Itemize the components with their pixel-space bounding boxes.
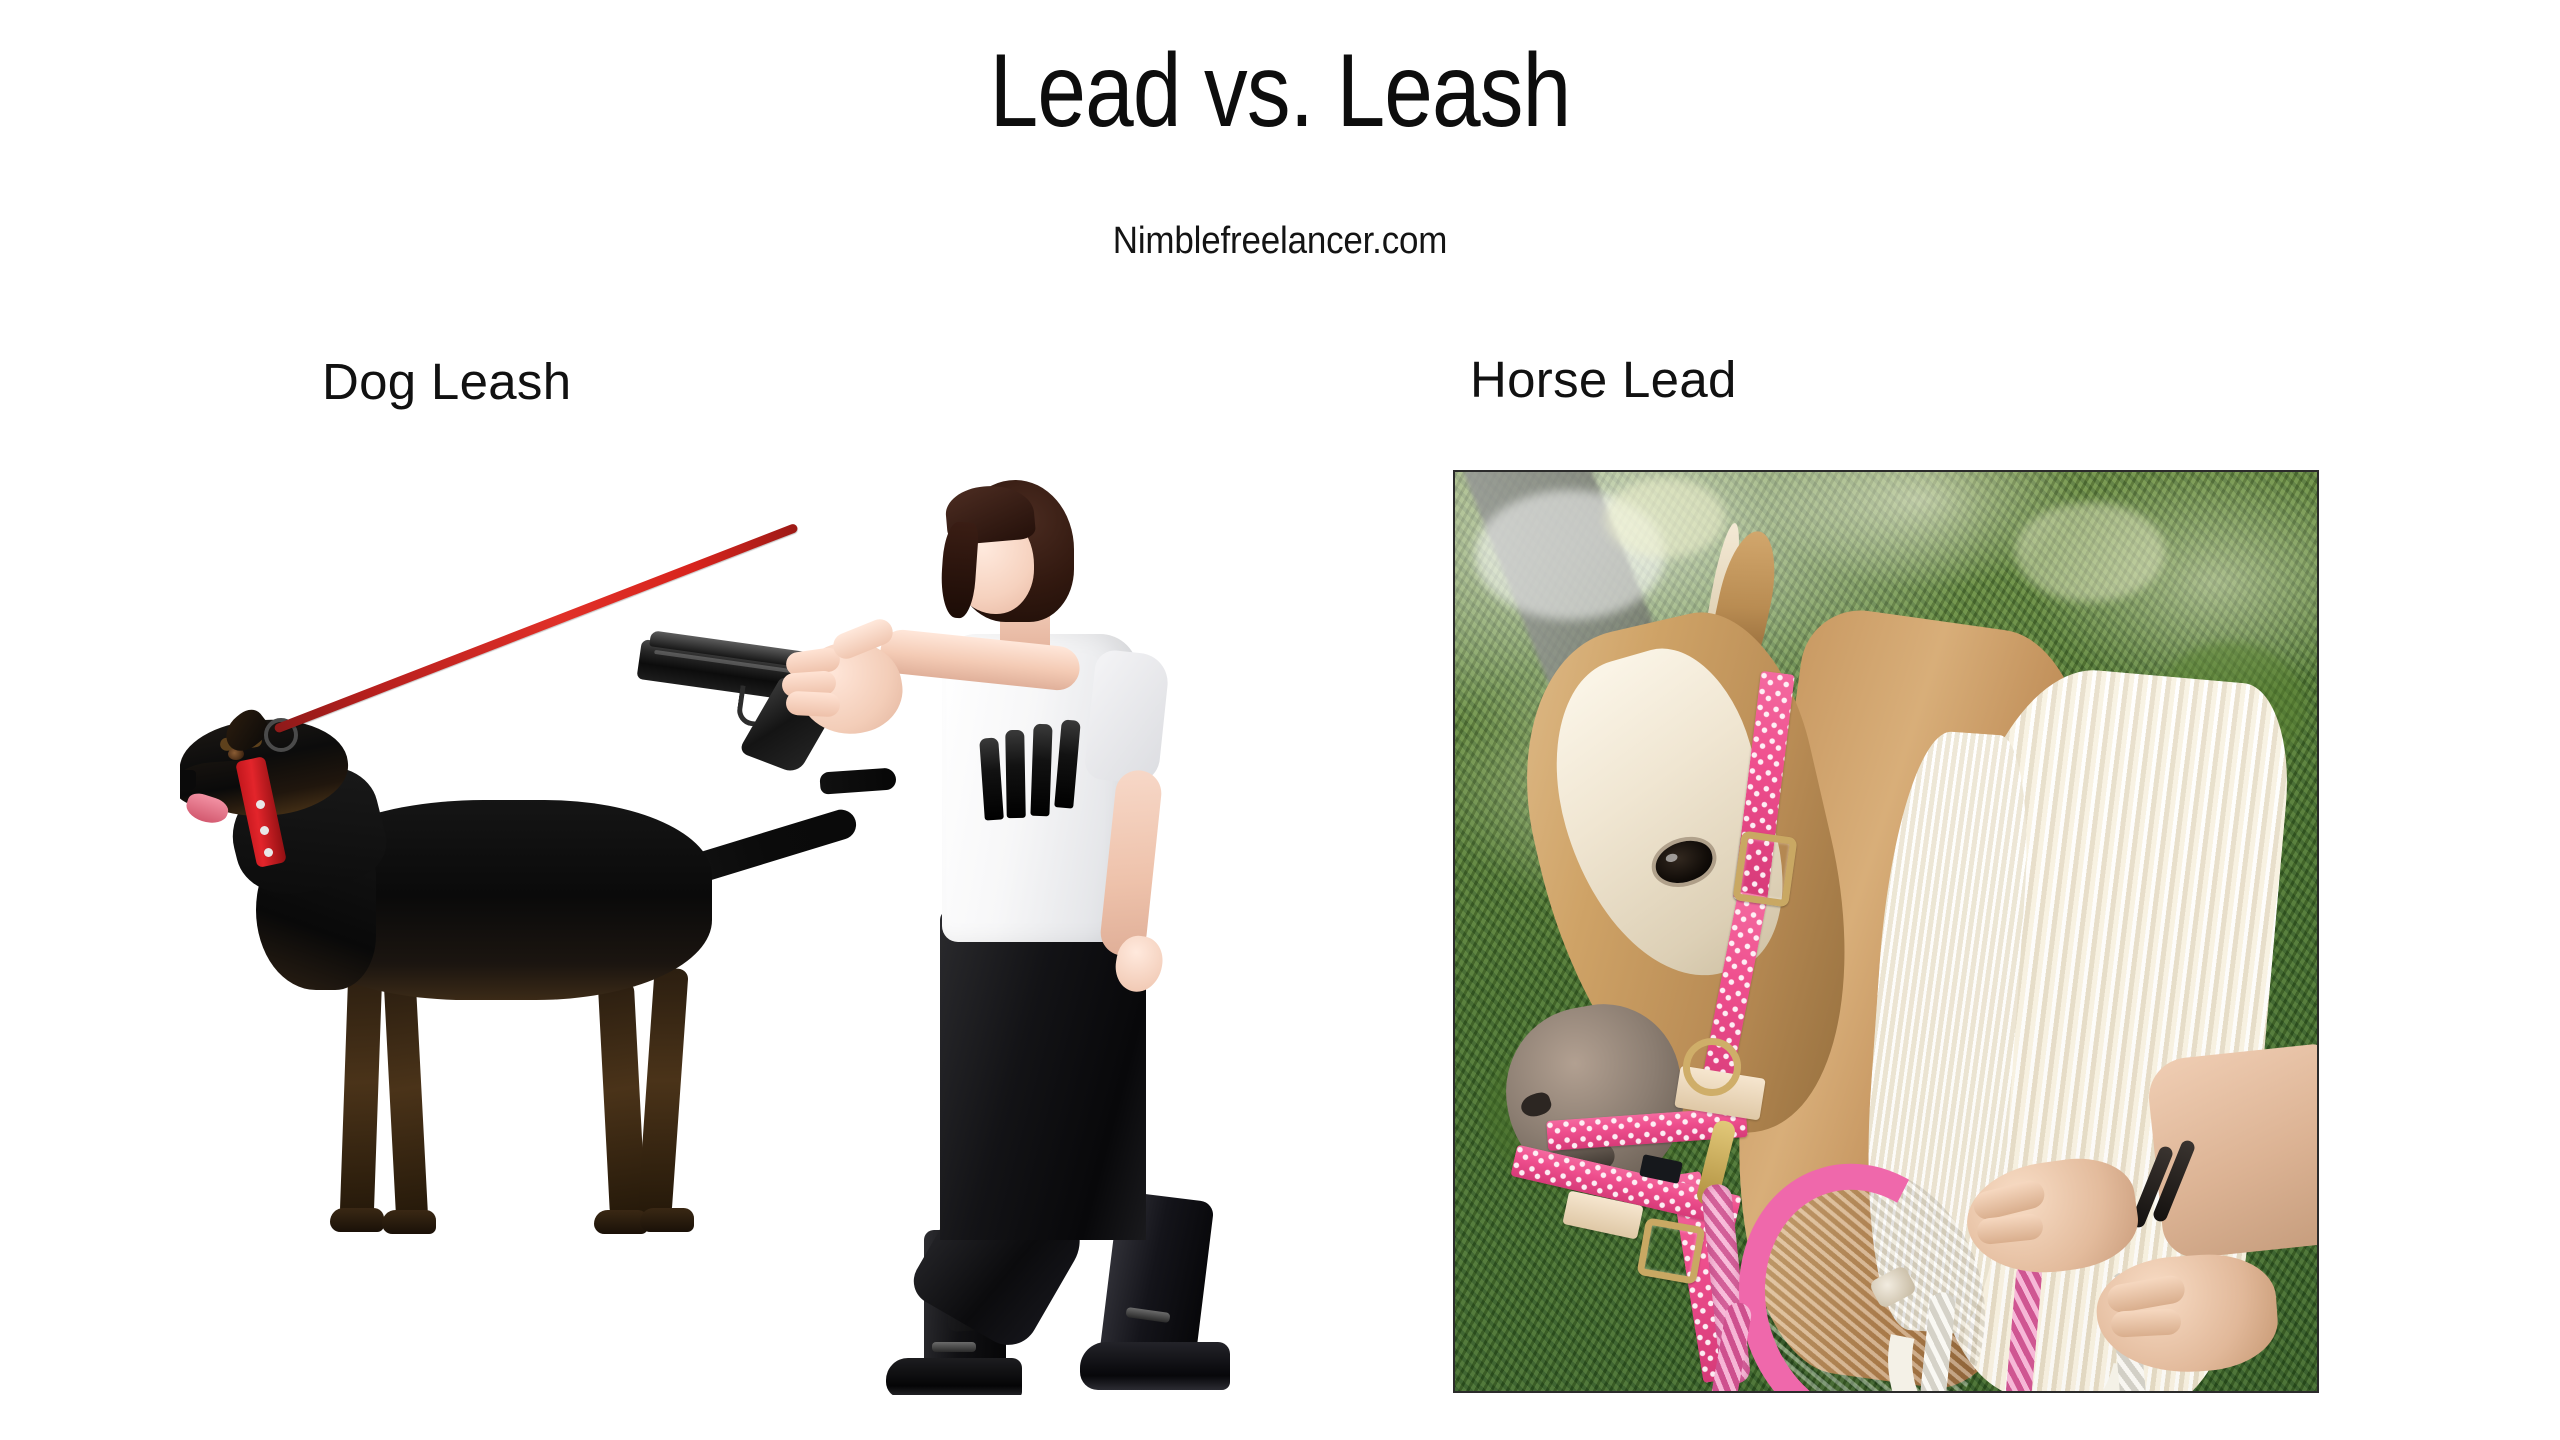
- hand-holding-leash: [780, 618, 930, 750]
- photo-horse-lead: [1453, 470, 2319, 1393]
- boot-back-foot: [886, 1358, 1022, 1395]
- photo-dog-leash: [180, 470, 1310, 1395]
- black-jeans: [940, 910, 1146, 1240]
- tshirt-graphic-print: [980, 720, 1088, 826]
- woman-head: [940, 480, 1072, 630]
- caption-dog-leash: Dog Leash: [322, 352, 571, 411]
- halter-buckle: [1732, 830, 1797, 907]
- tshirt-sleeve: [1083, 648, 1170, 785]
- finger: [2110, 1308, 2181, 1338]
- finger: [785, 691, 840, 718]
- page-title: Lead vs. Leash: [205, 36, 2355, 146]
- halter-buckle: [1636, 1217, 1705, 1285]
- boot-front-foot: [1080, 1342, 1230, 1390]
- woman-illustration: [180, 470, 1310, 1395]
- boot-buckle: [932, 1342, 976, 1352]
- page-subtitle: Nimblefreelancer.com: [102, 220, 2457, 263]
- slide-canvas: Lead vs. Leash Nimblefreelancer.com Dog …: [0, 0, 2560, 1440]
- caption-horse-lead: Horse Lead: [1470, 350, 1737, 409]
